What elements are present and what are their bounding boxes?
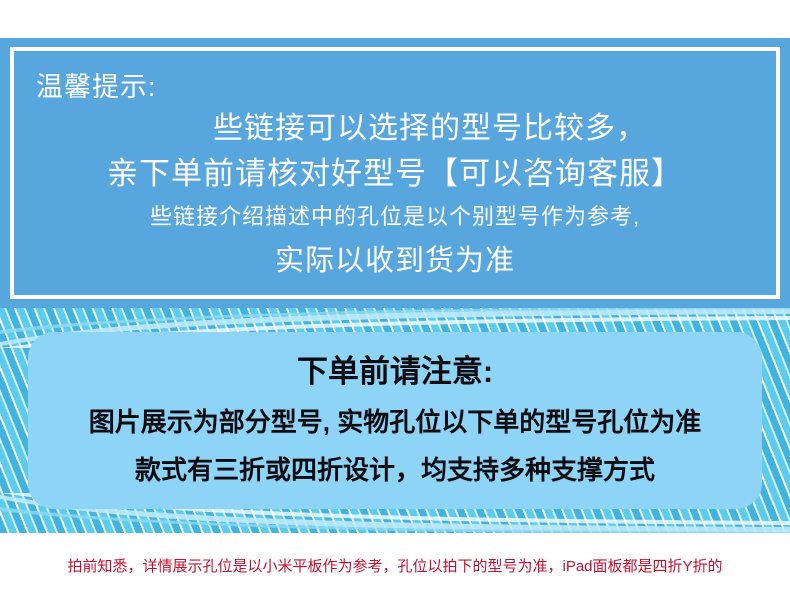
notice-line-3: 些链接介绍描述中的孔位是以个别型号作为参考, — [36, 197, 754, 237]
attention-title: 下单前请注意: — [38, 346, 752, 398]
footnote-text: 拍前知悉，详情展示孔位是以小米平板作为参考，孔位以拍下的型号为准，iPad面板都… — [0, 556, 790, 578]
attention-card: 下单前请注意: 图片展示为部分型号, 实物孔位以下单的型号孔位为准 款式有三折或… — [28, 332, 762, 509]
notice-panel-border: 温馨提示: 些链接可以选择的型号比较多， 亲下单前请核对好型号【可以咨询客服】 … — [10, 47, 780, 299]
attention-text-block: 下单前请注意: 图片展示为部分型号, 实物孔位以下单的型号孔位为准 款式有三折或… — [28, 332, 762, 509]
striped-banner: 下单前请注意: 图片展示为部分型号, 实物孔位以下单的型号孔位为准 款式有三折或… — [0, 308, 790, 533]
notice-line-2: 亲下单前请核对好型号【可以咨询客服】 — [36, 151, 754, 197]
promo-image: 温馨提示: 些链接可以选择的型号比较多， 亲下单前请核对好型号【可以咨询客服】 … — [0, 0, 790, 603]
attention-line-2: 款式有三折或四折设计，均支持多种支撑方式 — [38, 446, 752, 494]
attention-line-1: 图片展示为部分型号, 实物孔位以下单的型号孔位为准 — [38, 398, 752, 446]
notice-text-block: 温馨提示: 些链接可以选择的型号比较多， 亲下单前请核对好型号【可以咨询客服】 … — [14, 51, 776, 295]
notice-heading: 温馨提示: — [36, 67, 754, 107]
notice-line-4: 实际以收到货为准 — [36, 237, 754, 285]
notice-panel: 温馨提示: 些链接可以选择的型号比较多， 亲下单前请核对好型号【可以咨询客服】 … — [0, 38, 790, 308]
notice-line-1: 些链接可以选择的型号比较多， — [36, 107, 754, 151]
